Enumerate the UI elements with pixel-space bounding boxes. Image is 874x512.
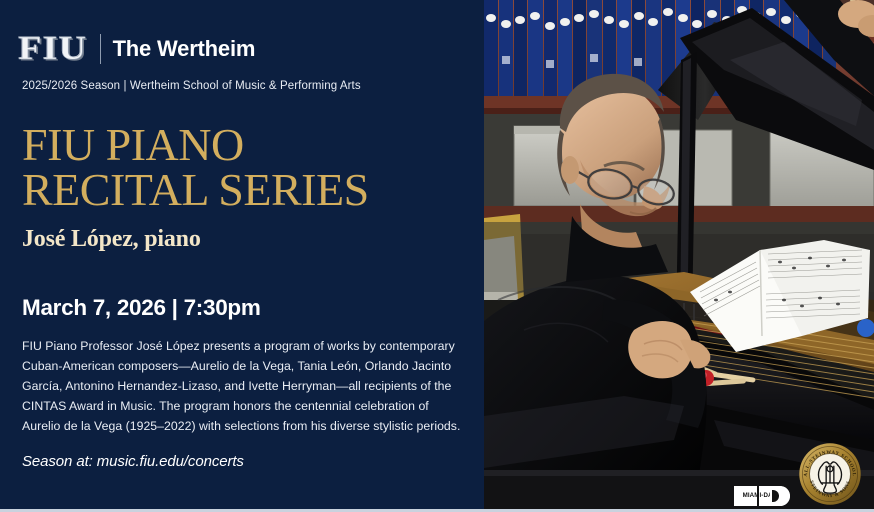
photo-illustration [484, 0, 874, 512]
fiu-wordmark-logo: FIU [22, 32, 84, 66]
sponsor-logo-row: MIAMI-DADE [734, 442, 862, 506]
miami-dade-county-logo: MIAMI-DADE [734, 486, 790, 506]
page-title: FIU PIANO RECITAL SERIES [22, 122, 462, 212]
brand-lockup: FIU The Wertheim [22, 28, 462, 70]
poster-text-panel: FIU The Wertheim 2025/2026 Season | Wert… [0, 0, 484, 512]
event-description: FIU Piano Professor José López presents … [22, 337, 462, 437]
title-block: FIU PIANO RECITAL SERIES José López, pia… [22, 122, 462, 253]
season-website-link[interactable]: Season at: music.fiu.edu/concerts [22, 453, 244, 470]
performer-name: José López, piano [22, 226, 462, 253]
vertical-divider-icon [100, 34, 101, 64]
all-steinway-school-seal: ALL-STEINWAY SCHOOL STEINWAY & SONS [798, 442, 862, 506]
concert-poster: FIU The Wertheim 2025/2026 Season | Wert… [0, 0, 874, 512]
pianist-photograph: MIAMI-DADE [484, 0, 874, 512]
brand-name: The Wertheim [113, 38, 256, 60]
season-subline: 2025/2026 Season | Wertheim School of Mu… [22, 80, 462, 92]
event-date-time: March 7, 2026 | 7:30pm [22, 295, 462, 321]
fiu-logo-text: FIU [18, 32, 87, 66]
